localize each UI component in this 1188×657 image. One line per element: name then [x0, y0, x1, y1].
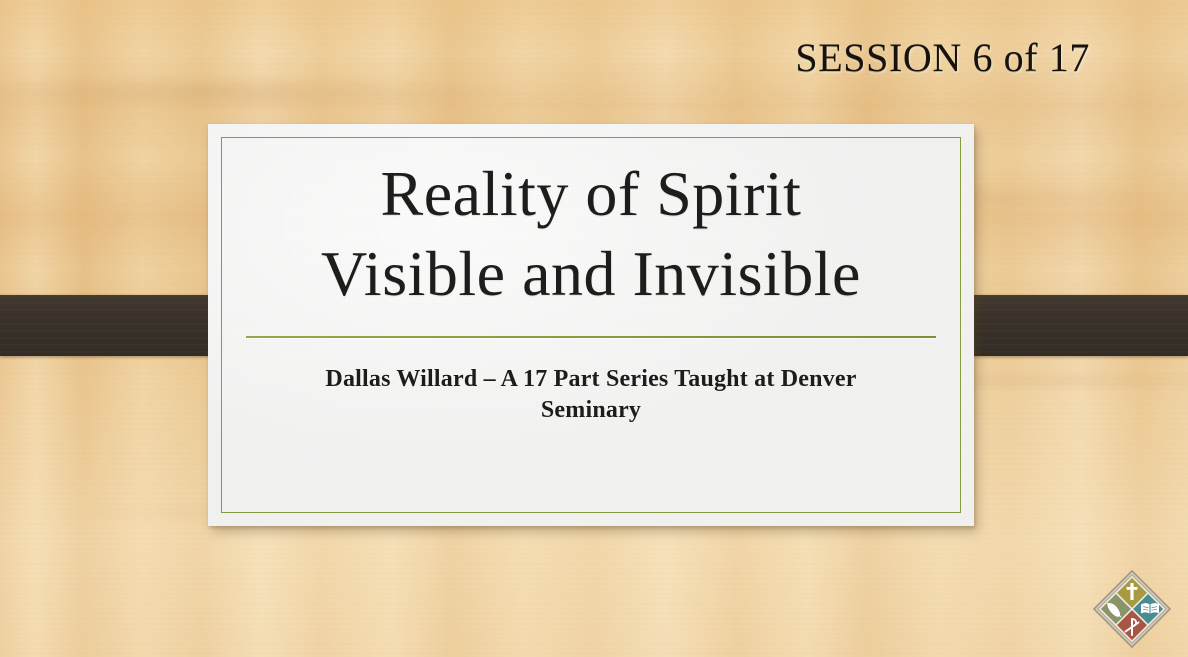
denver-seminary-logo — [1093, 570, 1171, 648]
ribbon-band-left — [0, 295, 234, 356]
card-content: Reality of Spirit Visible and Invisible … — [208, 124, 974, 526]
title-line-1: Reality of Spirit — [248, 154, 934, 234]
ribbon-band-right — [944, 295, 1188, 356]
title-card: Reality of Spirit Visible and Invisible … — [208, 124, 974, 526]
session-header: SESSION 6 of 17 — [795, 35, 1090, 81]
subtitle: Dallas Willard – A 17 Part Series Taught… — [291, 364, 891, 426]
page-title: Reality of Spirit Visible and Invisible — [208, 124, 974, 314]
title-line-2: Visible and Invisible — [248, 234, 934, 314]
title-slide: SESSION 6 of 17 Reality of Spirit Visibl… — [0, 0, 1188, 657]
title-divider — [246, 336, 936, 338]
